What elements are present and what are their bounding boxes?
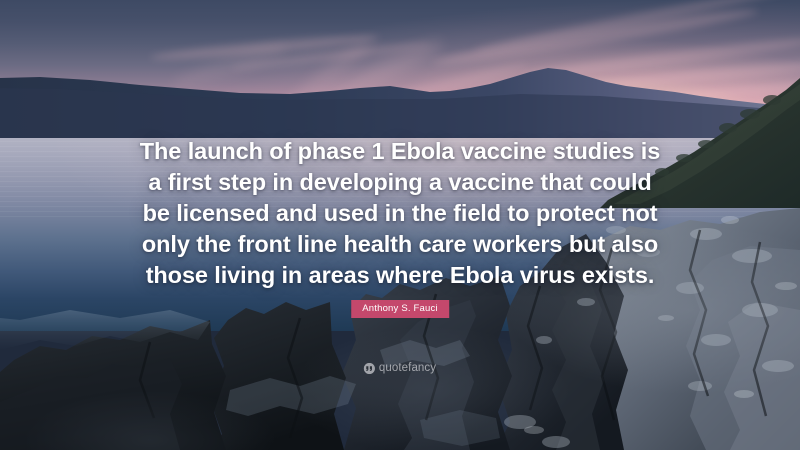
cloud-streak bbox=[431, 4, 759, 69]
quote-line: only the front line health care workers … bbox=[60, 229, 740, 260]
author-badge[interactable]: Anthony S. Fauci bbox=[351, 300, 449, 318]
quote-line: a first step in developing a vaccine tha… bbox=[60, 167, 740, 198]
watermark[interactable]: quotefancy bbox=[364, 362, 436, 374]
quote-line: be licensed and used in the field to pro… bbox=[60, 198, 740, 229]
quote-line: The launch of phase 1 Ebola vaccine stud… bbox=[60, 136, 740, 167]
watermark-brand: quotefancy bbox=[379, 362, 436, 374]
quote-text: The launch of phase 1 Ebola vaccine stud… bbox=[60, 136, 740, 291]
quotefancy-logo-icon bbox=[364, 363, 375, 374]
quote-poster: The launch of phase 1 Ebola vaccine stud… bbox=[0, 0, 800, 450]
quote-line: those living in areas where Ebola virus … bbox=[60, 260, 740, 291]
